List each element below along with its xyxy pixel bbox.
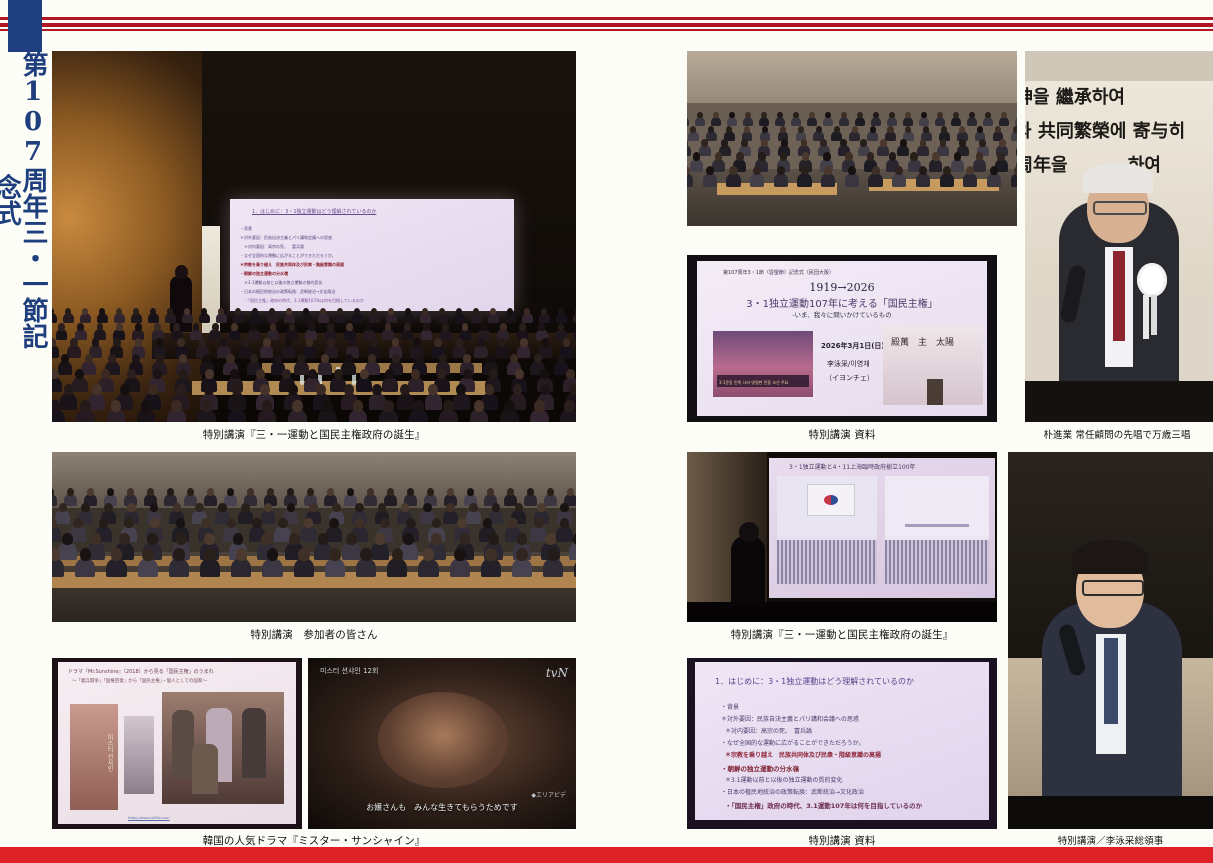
audience-head bbox=[52, 548, 60, 561]
audience-head bbox=[156, 338, 164, 347]
audience-head bbox=[437, 369, 446, 379]
audience-head bbox=[870, 126, 876, 133]
audience-head bbox=[329, 518, 339, 529]
title-slide-main: 3・1独立運動107年に考える「国民主権」 bbox=[697, 295, 987, 310]
audience-head bbox=[135, 323, 142, 331]
audience-head bbox=[267, 548, 279, 561]
audience-head bbox=[867, 152, 875, 160]
scene-banner-speaker: 神을 繼承하여 와 共同繁榮에 寄与히 周年을 하여 bbox=[1025, 51, 1213, 422]
audience-person bbox=[262, 558, 282, 577]
audience-head bbox=[262, 400, 273, 412]
audience-head bbox=[304, 518, 314, 529]
audience-head bbox=[500, 323, 507, 331]
audience-person bbox=[695, 117, 705, 126]
audience-person bbox=[774, 173, 788, 187]
audience-person bbox=[382, 377, 398, 392]
audience-head bbox=[205, 369, 214, 379]
audience-person bbox=[450, 558, 470, 577]
audience-head bbox=[119, 533, 130, 545]
audience-head bbox=[995, 126, 1001, 133]
audience-person bbox=[326, 526, 343, 542]
audience-head bbox=[834, 126, 840, 133]
audience-head bbox=[80, 548, 92, 561]
bottom-decorative-rule bbox=[0, 847, 1213, 863]
audience-person bbox=[387, 558, 407, 577]
audience-person bbox=[887, 117, 897, 126]
audience-person bbox=[823, 117, 833, 126]
audience-head bbox=[147, 533, 158, 545]
audience-person bbox=[759, 117, 769, 126]
audience-person bbox=[453, 393, 470, 410]
audience-head bbox=[921, 112, 927, 118]
audience-head bbox=[517, 533, 528, 545]
audience-head bbox=[203, 354, 211, 363]
audience-head bbox=[344, 384, 354, 395]
projection-screen-title: 第107周年3・1節〈昏望節〉記念式（民団大阪） 1919→2026 3・1独立… bbox=[697, 261, 987, 416]
audience-head bbox=[527, 488, 534, 496]
glasses-icon bbox=[1093, 201, 1147, 215]
audience-head bbox=[726, 126, 732, 133]
audience-head bbox=[985, 112, 991, 118]
audience-person bbox=[1015, 117, 1017, 126]
audience-head bbox=[261, 533, 272, 545]
audience-head bbox=[218, 308, 224, 315]
audience-head bbox=[320, 308, 326, 315]
audience-head bbox=[392, 548, 404, 561]
audience-head bbox=[895, 166, 903, 175]
audience-head bbox=[940, 139, 947, 147]
necktie bbox=[1113, 251, 1125, 341]
audience-head bbox=[969, 112, 975, 118]
building bbox=[905, 490, 969, 527]
audience-head bbox=[176, 384, 186, 395]
title-slide-sub: -いま、我々に問いかけているもの bbox=[697, 309, 987, 319]
audience-head bbox=[943, 166, 951, 175]
audience-head bbox=[204, 384, 214, 395]
audience-head bbox=[267, 488, 274, 496]
audience-person bbox=[466, 510, 481, 524]
audience-head bbox=[560, 503, 569, 513]
drama-slide-source-url: https://www.netflix.com bbox=[128, 816, 170, 820]
audience-head bbox=[233, 533, 244, 545]
audience-head bbox=[485, 384, 495, 395]
audience-head bbox=[780, 126, 786, 133]
audience-head bbox=[487, 488, 494, 496]
audience-head bbox=[857, 112, 863, 118]
audience-head bbox=[346, 533, 357, 545]
audience-head bbox=[483, 518, 493, 529]
audience-person bbox=[892, 173, 906, 187]
audience-head bbox=[823, 152, 831, 160]
slide1-bullet-6: ＊3.1運動以前と以後の独立運動の質的変化 bbox=[244, 280, 322, 286]
audience-head bbox=[407, 488, 414, 496]
audience-person bbox=[687, 145, 691, 156]
audience-head bbox=[104, 503, 113, 513]
photo-audience-standing bbox=[687, 51, 1017, 226]
slide-photo-calligraphy-text: 殿萬 主 太陽 bbox=[891, 335, 954, 348]
slide-photo-calligraphy: 殿萬 主 太陽 bbox=[883, 325, 983, 405]
audience-person bbox=[940, 173, 954, 187]
audience-person bbox=[75, 558, 95, 577]
audience-head bbox=[177, 338, 185, 347]
audience-head bbox=[156, 354, 164, 363]
audience-head bbox=[120, 384, 130, 395]
photo-audience-seated bbox=[52, 452, 576, 622]
audience-head bbox=[67, 488, 74, 496]
audience-head bbox=[534, 518, 544, 529]
audience-head bbox=[422, 308, 428, 315]
audience-head bbox=[845, 152, 853, 160]
audience-head bbox=[220, 338, 228, 347]
photo-slide-title-shiryo: 第107周年3・1節〈昏望節〉記念式（民団大阪） 1919→2026 3・1独立… bbox=[687, 255, 997, 422]
audience-person bbox=[821, 173, 835, 187]
audience-person bbox=[1011, 173, 1018, 187]
audience-head bbox=[801, 139, 808, 147]
audience-head bbox=[456, 338, 464, 347]
drama-still-large bbox=[162, 692, 284, 804]
audience-head bbox=[132, 354, 140, 363]
title-slide-speaker-kana: （イヨンチェ） bbox=[825, 373, 874, 383]
foreground-dark bbox=[687, 602, 997, 622]
audience-head bbox=[761, 139, 768, 147]
drama-still-small bbox=[124, 716, 154, 794]
audience-head bbox=[697, 112, 703, 118]
audience-head bbox=[713, 112, 719, 118]
audience-person bbox=[231, 558, 251, 577]
drama-slide-title: ドラマ『Mr.Sunshine』（2018）から見る「国民主権」のうまれ bbox=[68, 668, 214, 675]
audience-head bbox=[252, 518, 262, 529]
audience-head bbox=[852, 126, 858, 133]
audience-head bbox=[744, 126, 750, 133]
audience-person bbox=[421, 329, 433, 340]
scene-speaker-portrait bbox=[1008, 452, 1213, 829]
audience-head bbox=[142, 548, 154, 561]
audience-head bbox=[932, 152, 940, 160]
audience-head bbox=[889, 152, 897, 160]
audience-person bbox=[999, 117, 1009, 126]
audience-head bbox=[327, 338, 335, 347]
audience-head bbox=[953, 112, 959, 118]
audience-head bbox=[285, 338, 293, 347]
scene-audience-standing bbox=[687, 51, 1017, 226]
audience-head bbox=[269, 308, 275, 315]
audience-head bbox=[327, 323, 334, 331]
slide1-bullet-5: ・朝鮮の独立運動の分水嶺 bbox=[240, 271, 288, 277]
audience-head bbox=[558, 323, 565, 331]
audience-head bbox=[85, 354, 93, 363]
audience-head bbox=[423, 548, 435, 561]
audience-head bbox=[70, 338, 78, 347]
audience-head bbox=[508, 518, 518, 529]
audience-head bbox=[52, 369, 59, 379]
audience-head bbox=[415, 354, 423, 363]
scene-hajimeni-slide: 1．はじめに：3・1独立運動はどう理解されているのか ・背景 ＊対外要因：民族自… bbox=[687, 658, 997, 829]
audience-head bbox=[462, 323, 469, 331]
tvn-logo: tvN bbox=[546, 666, 568, 680]
audience-head bbox=[127, 488, 134, 496]
audience-head bbox=[1014, 166, 1017, 175]
audience-head bbox=[235, 308, 241, 315]
audience-head bbox=[538, 323, 545, 331]
audience-person bbox=[726, 173, 740, 187]
photo-lecture-hall-wide: 1．はじめに：3・1独立運動はどう理解されているのか ・背景 ＊対外要因：民族自… bbox=[52, 51, 576, 422]
slide1-bullet-3: ・なぜ全国的な運動に広がることができただろうか。 bbox=[240, 253, 336, 259]
audience-head bbox=[840, 139, 847, 147]
photo-banner-speaker: 神을 繼承하여 와 共同繁榮에 寄与히 周年을 하여 bbox=[1025, 51, 1213, 422]
scene-audience-seated bbox=[52, 452, 576, 622]
audience-head bbox=[490, 308, 496, 315]
crowd-texture bbox=[885, 540, 989, 584]
figure bbox=[172, 710, 194, 778]
slide-photo-crowd: 3·1운동 민족 나라-영명한 민중 조선 주요 bbox=[713, 331, 813, 397]
title-slide-speaker-hanja: 李泳采/이영채 bbox=[827, 359, 870, 369]
audience-head bbox=[564, 400, 575, 412]
slide1-bullet-7: ・日本の植民地統治の政策転換：武断統治→文化政治 bbox=[240, 289, 335, 295]
audience-head bbox=[701, 139, 708, 147]
audience-head bbox=[316, 384, 326, 395]
audience-head bbox=[516, 548, 528, 561]
table-right bbox=[869, 179, 999, 191]
audience-head bbox=[176, 518, 186, 529]
hajimeni-title: 1．はじめに：3・1独立運動はどう理解されているのか bbox=[715, 676, 914, 687]
rule-line-3 bbox=[0, 29, 1213, 31]
audience-head bbox=[460, 533, 471, 545]
audience-head bbox=[252, 308, 258, 315]
hajimeni-bullet-0: ・背景 bbox=[721, 702, 739, 711]
audience-head bbox=[427, 488, 434, 496]
audience-head bbox=[524, 308, 530, 315]
figure-seated bbox=[192, 744, 218, 794]
flag-korea bbox=[807, 484, 855, 516]
audience-person bbox=[903, 117, 913, 126]
audience-head bbox=[345, 354, 353, 363]
audience-head bbox=[573, 533, 576, 545]
audience-head bbox=[107, 488, 114, 496]
audience-head bbox=[91, 533, 102, 545]
audience-person bbox=[935, 117, 945, 126]
audience-person bbox=[574, 329, 576, 340]
audience-head bbox=[116, 323, 123, 331]
audience-head bbox=[113, 338, 121, 347]
audience-head bbox=[242, 338, 250, 347]
audience-person bbox=[855, 117, 865, 126]
audience-head bbox=[303, 308, 309, 315]
foreground-dark bbox=[1008, 796, 1213, 829]
audience-head bbox=[542, 338, 550, 347]
spine-block bbox=[8, 0, 42, 52]
audience-head bbox=[153, 369, 162, 379]
audience-person bbox=[699, 145, 711, 156]
audience-head bbox=[548, 548, 560, 561]
audience-head bbox=[824, 166, 832, 175]
audience-head bbox=[227, 518, 237, 529]
audience-head bbox=[919, 166, 927, 175]
slide1-bullet-1: ＊対外要因：民族自決主義とパリ講和会議への思惑 bbox=[240, 235, 332, 241]
audience-head bbox=[321, 354, 329, 363]
audience-head bbox=[781, 139, 788, 147]
audience-head bbox=[298, 548, 310, 561]
audience-head bbox=[499, 338, 507, 347]
audience-person bbox=[318, 361, 333, 375]
audience-head bbox=[860, 139, 867, 147]
audience-head bbox=[923, 126, 929, 133]
audience-head bbox=[454, 548, 466, 561]
audience-head bbox=[150, 518, 160, 529]
audience-head bbox=[150, 308, 156, 315]
audience-head bbox=[353, 400, 364, 412]
audience-head bbox=[481, 323, 488, 331]
audience-head bbox=[905, 112, 911, 118]
hajimeni-bullet-7: ・日本の植民地統治の政策転換：武断統治→文化政治 bbox=[721, 787, 864, 796]
audience-head bbox=[264, 503, 273, 513]
audience-head bbox=[360, 369, 369, 379]
audience-head bbox=[372, 384, 382, 395]
scene-title-slide: 第107周年3・1節〈昏望節〉記念式（民団大阪） 1919→2026 3・1独立… bbox=[687, 255, 997, 422]
hajimeni-bullet-4: ＊宗教を乗り越え 民族共同体及び民衆・階級意識の高揚 bbox=[725, 750, 881, 759]
audience-head bbox=[990, 166, 998, 175]
audience-head bbox=[405, 308, 411, 315]
audience-head bbox=[332, 503, 341, 513]
audience-head bbox=[392, 354, 400, 363]
audience-head bbox=[485, 548, 497, 561]
audience-head bbox=[872, 166, 880, 175]
audience-person bbox=[839, 117, 849, 126]
audience-person bbox=[556, 526, 573, 542]
audience-person bbox=[238, 510, 253, 524]
audience-head bbox=[798, 126, 804, 133]
audience-person bbox=[443, 510, 458, 524]
audience-person bbox=[229, 329, 241, 340]
audience-head bbox=[99, 308, 105, 315]
audience-head bbox=[167, 488, 174, 496]
audience-head bbox=[278, 518, 288, 529]
audience-person bbox=[951, 159, 964, 172]
audience-person bbox=[967, 117, 977, 126]
audience-person bbox=[711, 117, 721, 126]
audience-head bbox=[413, 338, 421, 347]
audience-head bbox=[65, 308, 71, 315]
audience-head bbox=[456, 308, 462, 315]
audience-head bbox=[250, 323, 257, 331]
audience-person bbox=[916, 173, 930, 187]
audience-head bbox=[148, 384, 158, 395]
audience-person bbox=[797, 173, 811, 187]
face-closeup bbox=[378, 692, 508, 788]
audience-head bbox=[289, 533, 300, 545]
audience-person bbox=[408, 377, 424, 392]
audience-head bbox=[575, 308, 576, 315]
audience-head bbox=[715, 152, 723, 160]
caption-drama-slide: 韓国の人気ドラマ『ミスター・サンシャイン』 bbox=[52, 833, 576, 848]
audience-head bbox=[736, 152, 744, 160]
audience-head bbox=[385, 323, 392, 331]
audience-person bbox=[209, 329, 221, 340]
audience-person bbox=[138, 558, 158, 577]
audience-head bbox=[920, 139, 927, 147]
audience-head bbox=[195, 503, 204, 513]
taegeuk bbox=[824, 495, 838, 505]
audience-head bbox=[289, 323, 296, 331]
audience-head bbox=[52, 400, 61, 412]
foreground-dark bbox=[1025, 381, 1213, 422]
audience-person bbox=[300, 526, 317, 542]
audience-head bbox=[910, 152, 918, 160]
audience-head bbox=[334, 369, 343, 379]
audience-head bbox=[507, 488, 514, 496]
audience-head bbox=[761, 112, 767, 118]
photo-drama-still: tvN 미스터 션샤인 12회 お嬢さんも みんな生きてもらうためです ◆エリア… bbox=[308, 658, 576, 829]
audience-head bbox=[404, 323, 411, 331]
audience-head bbox=[204, 548, 216, 561]
audience-head bbox=[825, 112, 831, 118]
audience-person bbox=[418, 558, 438, 577]
audience-person bbox=[917, 145, 929, 156]
audience-head bbox=[401, 503, 410, 513]
audience-person bbox=[1016, 145, 1017, 156]
audience-head bbox=[977, 126, 983, 133]
audience-head bbox=[474, 400, 485, 412]
audience-head bbox=[231, 323, 238, 331]
slide1-bullet-0: ・背景 bbox=[240, 226, 252, 232]
audience-head bbox=[558, 308, 564, 315]
audience-person bbox=[791, 117, 801, 126]
audience-person bbox=[106, 558, 126, 577]
audience-head bbox=[97, 323, 104, 331]
audience-head bbox=[380, 518, 390, 529]
audience-head bbox=[318, 533, 329, 545]
audience-head bbox=[82, 308, 88, 315]
audience-person bbox=[200, 558, 220, 577]
audience-head bbox=[758, 152, 766, 160]
audience-head bbox=[292, 400, 303, 412]
audience-head bbox=[954, 152, 962, 160]
audience-head bbox=[308, 323, 315, 331]
audience-head bbox=[802, 152, 810, 160]
audience-head bbox=[387, 488, 394, 496]
photo-slide-hajimeni: 1．はじめに：3・1独立運動はどう理解されているのか ・背景 ＊対外要因：民族自… bbox=[687, 658, 997, 829]
audience-head bbox=[443, 400, 454, 412]
audience-head bbox=[392, 338, 400, 347]
audience-head bbox=[322, 400, 333, 412]
audience-head bbox=[154, 323, 161, 331]
audience-head bbox=[179, 354, 187, 363]
slide1-bullet-8: ・「国民主権」政府の時代、3.1運動107年は何を目指しているのか bbox=[244, 298, 364, 304]
audience-head bbox=[232, 384, 242, 395]
caption-banner-speaker: 朴進業 常任顧問の先唱で万歳三唱 bbox=[1021, 427, 1213, 441]
projection-screen-hajimeni: 1．はじめに：3・1独立運動はどう理解されているのか ・背景 ＊対外要因：民族自… bbox=[695, 662, 989, 820]
drama-poster-label: 미스터 션샤인 bbox=[105, 734, 114, 772]
scene-drama-slide: ドラマ『Mr.Sunshine』（2018）から見る「国民主権」のうまれ 〜「義… bbox=[52, 658, 302, 829]
audience-head bbox=[260, 384, 270, 395]
audience-person bbox=[72, 377, 88, 392]
audience-head bbox=[92, 338, 100, 347]
audience-head bbox=[1001, 112, 1007, 118]
audience-head bbox=[179, 369, 188, 379]
audience-head bbox=[127, 369, 136, 379]
audience-person bbox=[750, 173, 764, 187]
scene-lecture-hall: 1．はじめに：3・1独立運動はどう理解されているのか ・背景 ＊対外要因：民族自… bbox=[52, 51, 576, 422]
audience-head bbox=[366, 323, 373, 331]
audience-head bbox=[519, 323, 526, 331]
audience-head bbox=[135, 338, 143, 347]
audience-head bbox=[541, 308, 547, 315]
audience-head bbox=[690, 126, 696, 133]
audience-person bbox=[877, 145, 889, 156]
audience-person bbox=[401, 329, 413, 340]
audience-person bbox=[727, 117, 737, 126]
audience-head bbox=[432, 518, 442, 529]
audience-head bbox=[423, 503, 432, 513]
